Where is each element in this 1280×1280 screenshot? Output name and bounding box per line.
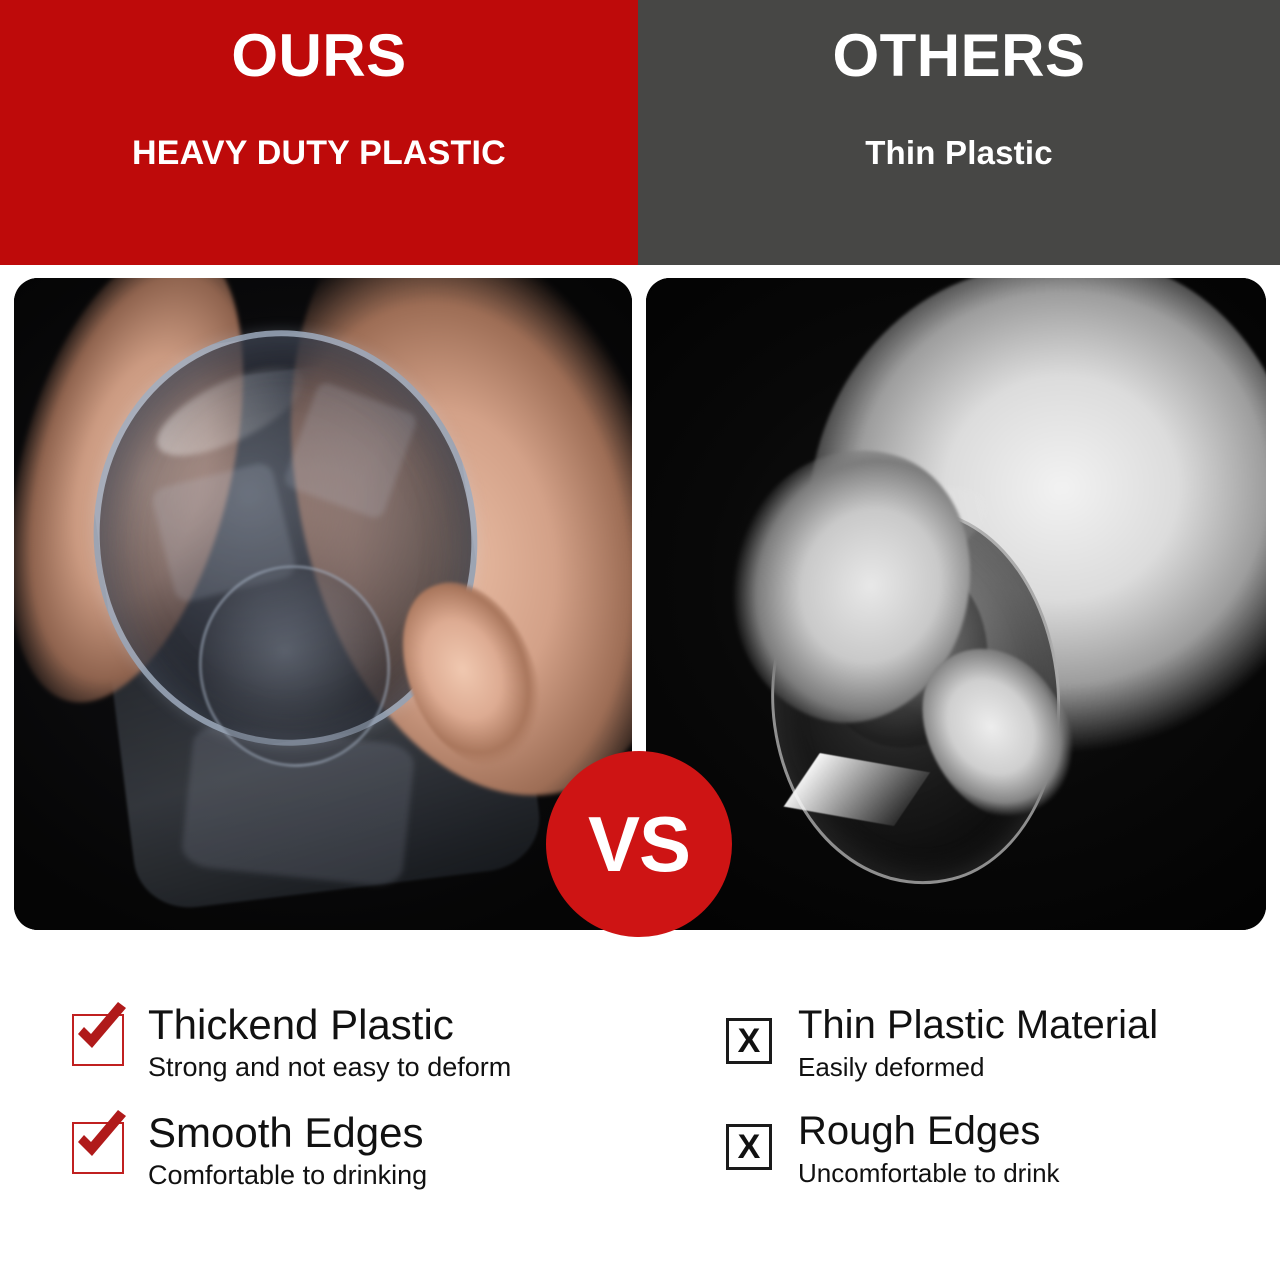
feature-description: Strong and not easy to deform: [148, 1050, 511, 1084]
feature-description: Uncomfortable to drink: [798, 1156, 1060, 1190]
feature-title: Thickend Plastic: [148, 1000, 511, 1050]
feature-description: Easily deformed: [798, 1050, 1158, 1084]
x-icon: X: [726, 1018, 772, 1064]
photo-ours-thick-tumbler: [14, 278, 632, 930]
header-title-others: OTHERS: [832, 26, 1085, 86]
check-icon: [72, 1122, 124, 1174]
x-icon: X: [726, 1124, 772, 1170]
feature-column-ours: Thickend Plastic Strong and not easy to …: [0, 1000, 640, 1250]
feature-row: Thickend Plastic Strong and not easy to …: [72, 1000, 640, 1084]
feature-text: Thin Plastic Material Easily deformed: [798, 1000, 1158, 1084]
feature-description: Comfortable to drinking: [148, 1158, 427, 1192]
header-subtitle-others: Thin Plastic: [865, 136, 1053, 170]
check-icon: [72, 1014, 124, 1066]
vs-label: VS: [588, 805, 690, 883]
feature-text: Rough Edges Uncomfortable to drink: [798, 1106, 1060, 1190]
feature-title: Thin Plastic Material: [798, 1000, 1158, 1050]
feature-column-others: X Thin Plastic Material Easily deformed …: [640, 1000, 1280, 1250]
vs-badge: VS: [546, 751, 732, 937]
photo-panel-others: [646, 278, 1266, 930]
feature-row: X Thin Plastic Material Easily deformed: [726, 1000, 1280, 1084]
feature-title: Rough Edges: [798, 1106, 1060, 1156]
header-column-ours: OURS HEAVY DUTY PLASTIC: [0, 0, 638, 265]
feature-row: Smooth Edges Comfortable to drinking: [72, 1108, 640, 1192]
feature-title: Smooth Edges: [148, 1108, 427, 1158]
header-subtitle-ours: HEAVY DUTY PLASTIC: [132, 136, 506, 170]
photo-others-deformed-cup: [646, 278, 1266, 930]
feature-text: Smooth Edges Comfortable to drinking: [148, 1108, 427, 1192]
comparison-header: OURS HEAVY DUTY PLASTIC OTHERS Thin Plas…: [0, 0, 1280, 265]
header-title-ours: OURS: [231, 26, 406, 86]
x-icon-glyph: X: [738, 1024, 761, 1058]
x-icon-glyph: X: [738, 1130, 761, 1164]
header-column-others: OTHERS Thin Plastic: [638, 0, 1280, 265]
photo-panel-ours: [14, 278, 632, 930]
comparison-photos: VS: [0, 278, 1280, 930]
feature-row: X Rough Edges Uncomfortable to drink: [726, 1106, 1280, 1190]
feature-comparison: Thickend Plastic Strong and not easy to …: [0, 1000, 1280, 1250]
feature-text: Thickend Plastic Strong and not easy to …: [148, 1000, 511, 1084]
